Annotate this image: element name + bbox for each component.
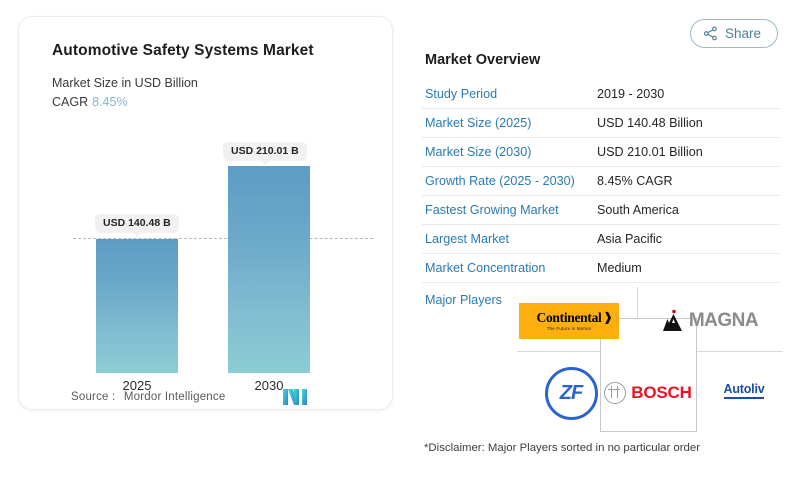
bosch-name: BOSCH xyxy=(631,383,691,403)
continental-tagline: The Future in Motion xyxy=(537,326,602,331)
share-button[interactable]: Share xyxy=(690,19,778,48)
table-row: Market Concentration Medium xyxy=(422,254,780,283)
share-button-label: Share xyxy=(725,26,761,41)
share-icon xyxy=(703,26,718,41)
row-value: 8.45% CAGR xyxy=(597,167,780,196)
major-players-logo-grid: Continental The Future in Motion ❱ MAGNA… xyxy=(517,287,783,432)
row-value: USD 210.01 Billion xyxy=(597,138,780,167)
table-row: Largest Market Asia Pacific xyxy=(422,225,780,254)
logo-bosch: BOSCH xyxy=(603,371,693,415)
table-row: Market Size (2025) USD 140.48 Billion xyxy=(422,109,780,138)
mordor-intelligence-logo-icon xyxy=(282,388,310,406)
continental-horse-icon: ❱ xyxy=(603,311,613,325)
row-key: Market Concentration xyxy=(422,254,597,283)
row-value: 2019 - 2030 xyxy=(597,80,780,109)
zf-name: ZF xyxy=(545,367,598,420)
bosch-armature-icon xyxy=(604,382,626,404)
row-value: South America xyxy=(597,196,780,225)
table-row: Market Size (2030) USD 210.01 Billion xyxy=(422,138,780,167)
row-key: Largest Market xyxy=(422,225,597,254)
logo-zf: ZF xyxy=(535,365,607,421)
row-key: Market Size (2025) xyxy=(422,109,597,138)
table-row: Fastest Growing Market South America xyxy=(422,196,780,225)
row-value: USD 140.48 Billion xyxy=(597,109,780,138)
market-overview-title: Market Overview xyxy=(425,52,540,68)
row-value: Medium xyxy=(597,254,780,283)
magna-mountain-icon xyxy=(661,309,685,333)
row-key: Market Size (2030) xyxy=(422,138,597,167)
market-overview-table: Study Period 2019 - 2030 Market Size (20… xyxy=(422,80,780,283)
magna-name: MAGNA xyxy=(689,310,758,332)
cagr-value: 8.45% xyxy=(92,95,127,109)
source-name: Mordor Intelligence xyxy=(124,391,226,403)
autoliv-name: Autoliv xyxy=(724,382,765,399)
logo-magna: MAGNA xyxy=(647,305,772,337)
table-row: Growth Rate (2025 - 2030) 8.45% CAGR xyxy=(422,167,780,196)
source-line: Source : Mordor Intelligence xyxy=(71,391,225,403)
source-label: Source : xyxy=(71,391,115,403)
cagr-label: CAGR xyxy=(52,95,88,109)
cagr-row: CAGR8.45% xyxy=(52,95,128,109)
continental-name: Continental xyxy=(537,311,602,325)
chart-title: Automotive Safety Systems Market xyxy=(52,42,314,60)
row-key: Fastest Growing Market xyxy=(422,196,597,225)
table-row: Study Period 2019 - 2030 xyxy=(422,80,780,109)
row-key: Growth Rate (2025 - 2030) xyxy=(422,167,597,196)
row-key: Study Period xyxy=(422,80,597,109)
logo-autoliv: Autoliv xyxy=(707,375,781,405)
chart-subtitle: Market Size in USD Billion xyxy=(52,76,198,90)
row-value: Asia Pacific xyxy=(597,225,780,254)
major-players-label: Major Players xyxy=(425,293,502,307)
disclaimer-text: *Disclaimer: Major Players sorted in no … xyxy=(424,442,700,454)
logo-continental: Continental The Future in Motion ❱ xyxy=(519,303,619,339)
